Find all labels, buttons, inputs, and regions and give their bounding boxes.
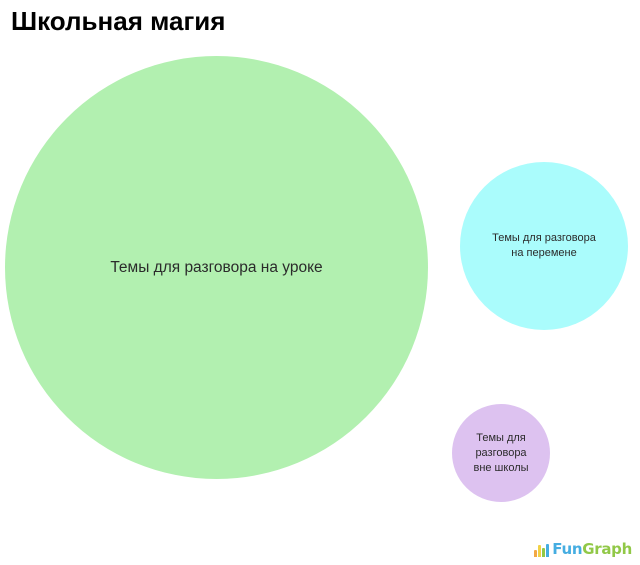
bubble-outside-label-line-2: разговора — [475, 447, 526, 459]
bubble-lesson[interactable]: Темы для разговора на уроке — [5, 56, 428, 479]
watermark-brand-graph: Graph — [582, 540, 632, 558]
page-title: Школьная магия — [11, 5, 225, 37]
bubble-break-label-line-1: Темы для разговора — [492, 232, 596, 244]
bubble-lesson-label: Темы для разговора на уроке — [104, 258, 328, 278]
bubble-break-label: Темы для разговора на перемене — [486, 231, 602, 261]
bar-chart-icon-bar-4 — [546, 544, 549, 557]
bar-chart-icon — [534, 543, 549, 557]
bubble-outside-label: Темы для разговора вне школы — [467, 431, 534, 476]
bubble-break[interactable]: Темы для разговора на перемене — [460, 162, 628, 330]
bar-chart-icon-bar-3 — [542, 548, 545, 557]
fungraph-watermark: FunGraph — [534, 542, 632, 557]
watermark-brand: FunGraph — [552, 542, 632, 557]
bubble-outside[interactable]: Темы для разговора вне школы — [452, 404, 550, 502]
bubble-outside-label-line-3: вне школы — [473, 462, 528, 474]
watermark-brand-fun: Fun — [552, 540, 582, 558]
bar-chart-icon-bar-1 — [534, 550, 537, 557]
chart-canvas: Школьная магия Темы для разговора на уро… — [0, 0, 640, 565]
bar-chart-icon-bar-2 — [538, 545, 541, 557]
bubble-break-label-line-2: на перемене — [511, 247, 576, 259]
bubble-outside-label-line-1: Темы для — [476, 432, 526, 444]
